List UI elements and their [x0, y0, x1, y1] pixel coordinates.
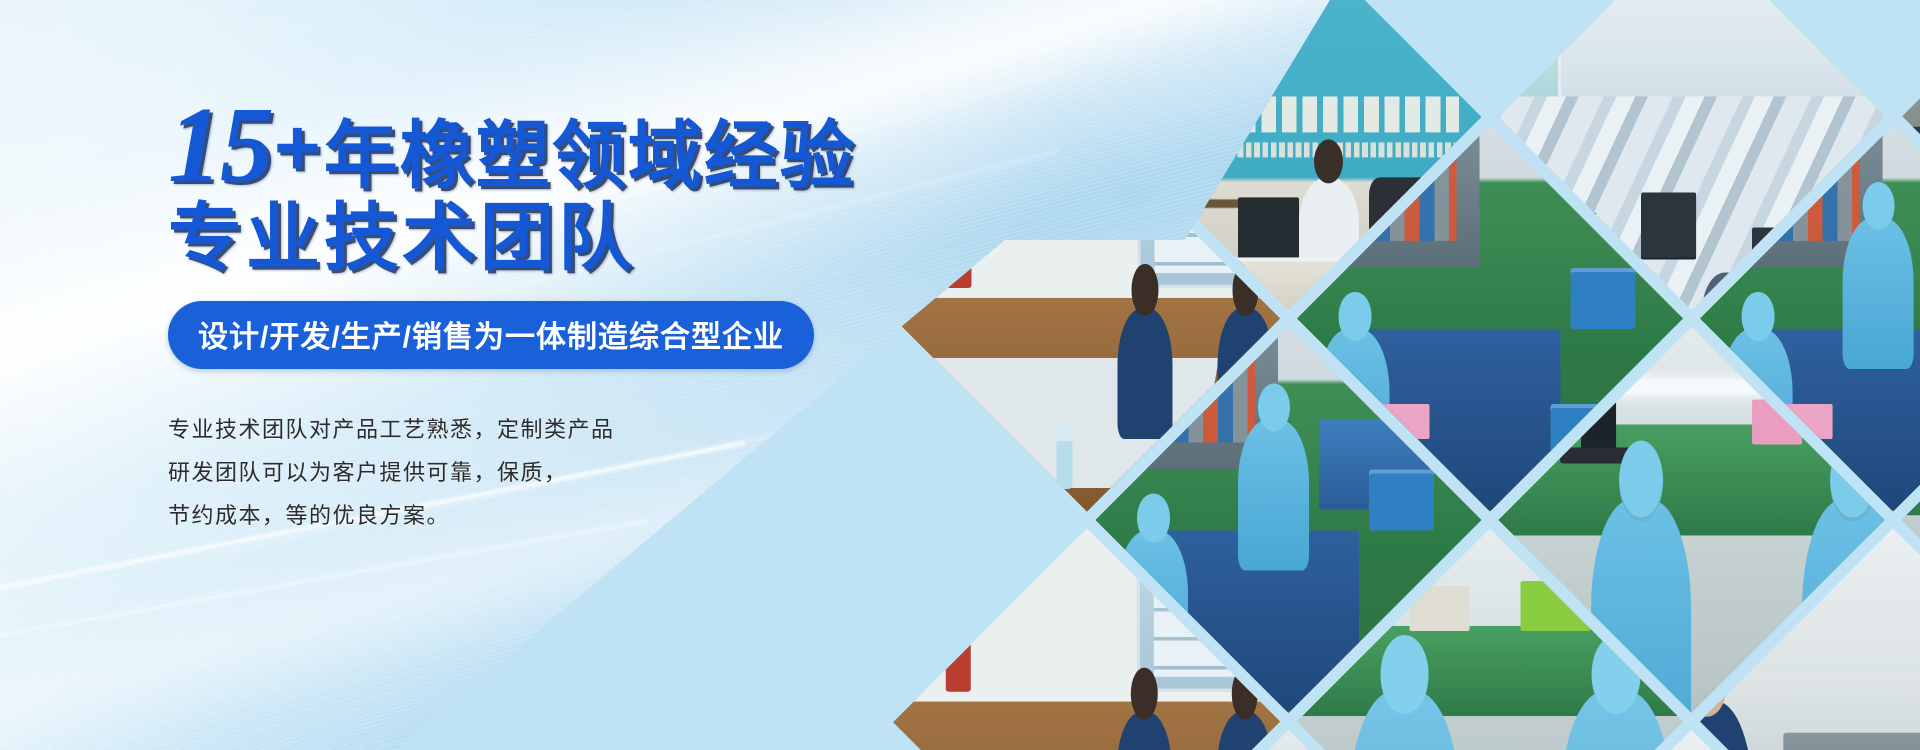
description-line-3: 节约成本，等的优良方案。: [168, 495, 928, 538]
headline-line-1: 15 + 年橡塑领域经验: [168, 92, 928, 200]
description-paragraph: 专业技术团队对产品工艺熟悉，定制类产品 研发团队可以为客户提供可靠，保质， 节约…: [168, 409, 928, 538]
page-title: 15 + 年橡塑领域经验 专业技术团队: [168, 92, 928, 275]
hero-text-block: 15 + 年橡塑领域经验 专业技术团队 设计/开发/生产/销售为一体制造综合型企…: [168, 92, 928, 538]
company-hero-banner: 15 + 年橡塑领域经验 专业技术团队 设计/开发/生产/销售为一体制造综合型企…: [0, 0, 1920, 750]
headline-line-2: 专业技术团队: [168, 196, 636, 279]
description-line-2: 研发团队可以为客户提供可靠，保质，: [168, 452, 928, 495]
status-badge: 设计/开发/生产/销售为一体制造综合型企业: [168, 301, 814, 369]
description-line-1: 专业技术团队对产品工艺熟悉，定制类产品: [168, 409, 928, 452]
years-number: 15: [168, 92, 272, 200]
plus-sign: +: [274, 108, 322, 188]
headline-line-1-cn: 年橡塑领域经验: [324, 118, 856, 193]
